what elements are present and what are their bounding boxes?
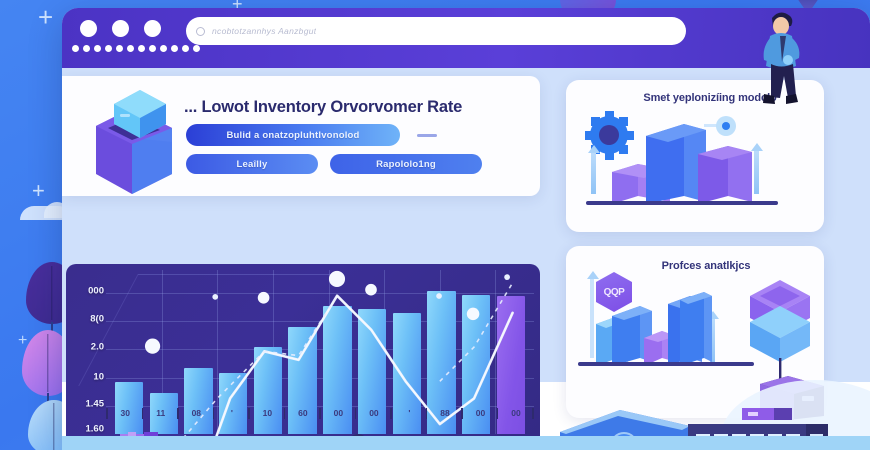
secondary-button-1[interactable]: Leaîlly xyxy=(186,154,318,174)
iso-bar xyxy=(680,292,704,366)
minidot xyxy=(171,45,178,52)
y-tick-label: 000 xyxy=(88,286,104,297)
y-tick-label: 2.0 xyxy=(91,342,104,353)
x-tick-label: ' xyxy=(408,408,410,418)
y-tick-label: 1.60 xyxy=(86,424,105,435)
person-illustration xyxy=(748,6,812,114)
window-control-close[interactable] xyxy=(80,20,97,37)
minidot xyxy=(94,45,101,52)
plus-decor-2: + xyxy=(32,178,45,204)
x-tick-label: 88 xyxy=(440,408,449,418)
minidot xyxy=(127,45,134,52)
window-control-maximize[interactable] xyxy=(144,20,161,37)
x-tick-label: ' xyxy=(231,408,233,418)
page-title: ... Lowot Inventory Orvorvomer Rate xyxy=(184,98,534,117)
x-tick-label: 00 xyxy=(511,408,520,418)
plus-decor-1: + xyxy=(38,2,53,33)
search-circle-icon xyxy=(196,27,205,36)
divider-dash xyxy=(417,134,437,137)
minidot xyxy=(138,45,145,52)
isometric-open-box-with-lid-icon xyxy=(80,82,184,194)
minidot xyxy=(160,45,167,52)
x-tick-label: 30 xyxy=(121,408,130,418)
window-controls[interactable] xyxy=(80,20,161,37)
iso-floor xyxy=(578,362,754,366)
x-tick-label: 08 xyxy=(192,408,201,418)
minidot xyxy=(182,45,189,52)
minidot xyxy=(149,45,156,52)
address-bar[interactable]: ncobtotzannhys Aanzbgut xyxy=(186,17,686,45)
x-tick-label: 10 xyxy=(263,408,272,418)
street-strip xyxy=(62,436,870,450)
chart-x-axis-labels: 30 11 08 ' 10 60 00 00 ' 88 00 00 xyxy=(106,408,534,422)
x-tick-label: 00 xyxy=(369,408,378,418)
hero-card: ... Lowot Inventory Orvorvomer Rate Buli… xyxy=(62,76,540,196)
y-tick-label: 10 xyxy=(93,371,104,382)
trend-line-markers xyxy=(106,270,534,413)
minidot xyxy=(83,45,90,52)
secondary-button-2[interactable]: Rapololo1ng xyxy=(330,154,482,174)
primary-cta-button[interactable]: Bulid a onatzopluhtlvonolod xyxy=(186,124,400,146)
x-tick-label: 00 xyxy=(334,408,343,418)
tab-strip-dots xyxy=(72,45,200,52)
y-tick-label: 1.45 xyxy=(86,399,105,410)
chart-y-axis: 000 8(0 2.0 10 1.45 1.60 xyxy=(68,270,106,434)
minidot xyxy=(105,45,112,52)
y-tick-label: 8(0 xyxy=(90,314,104,325)
x-tick-label: 00 xyxy=(476,408,485,418)
iso-floor xyxy=(586,201,778,205)
x-tick-label: 60 xyxy=(298,408,307,418)
window-control-minimize[interactable] xyxy=(112,20,129,37)
page-content: ... Lowot Inventory Orvorvomer Rate Buli… xyxy=(62,68,870,438)
minidot xyxy=(193,45,200,52)
address-bar-placeholder: ncobtotzannhys Aanzbgut xyxy=(212,26,316,36)
x-tick-label: 11 xyxy=(156,408,165,418)
minidot xyxy=(72,45,79,52)
minidot xyxy=(116,45,123,52)
